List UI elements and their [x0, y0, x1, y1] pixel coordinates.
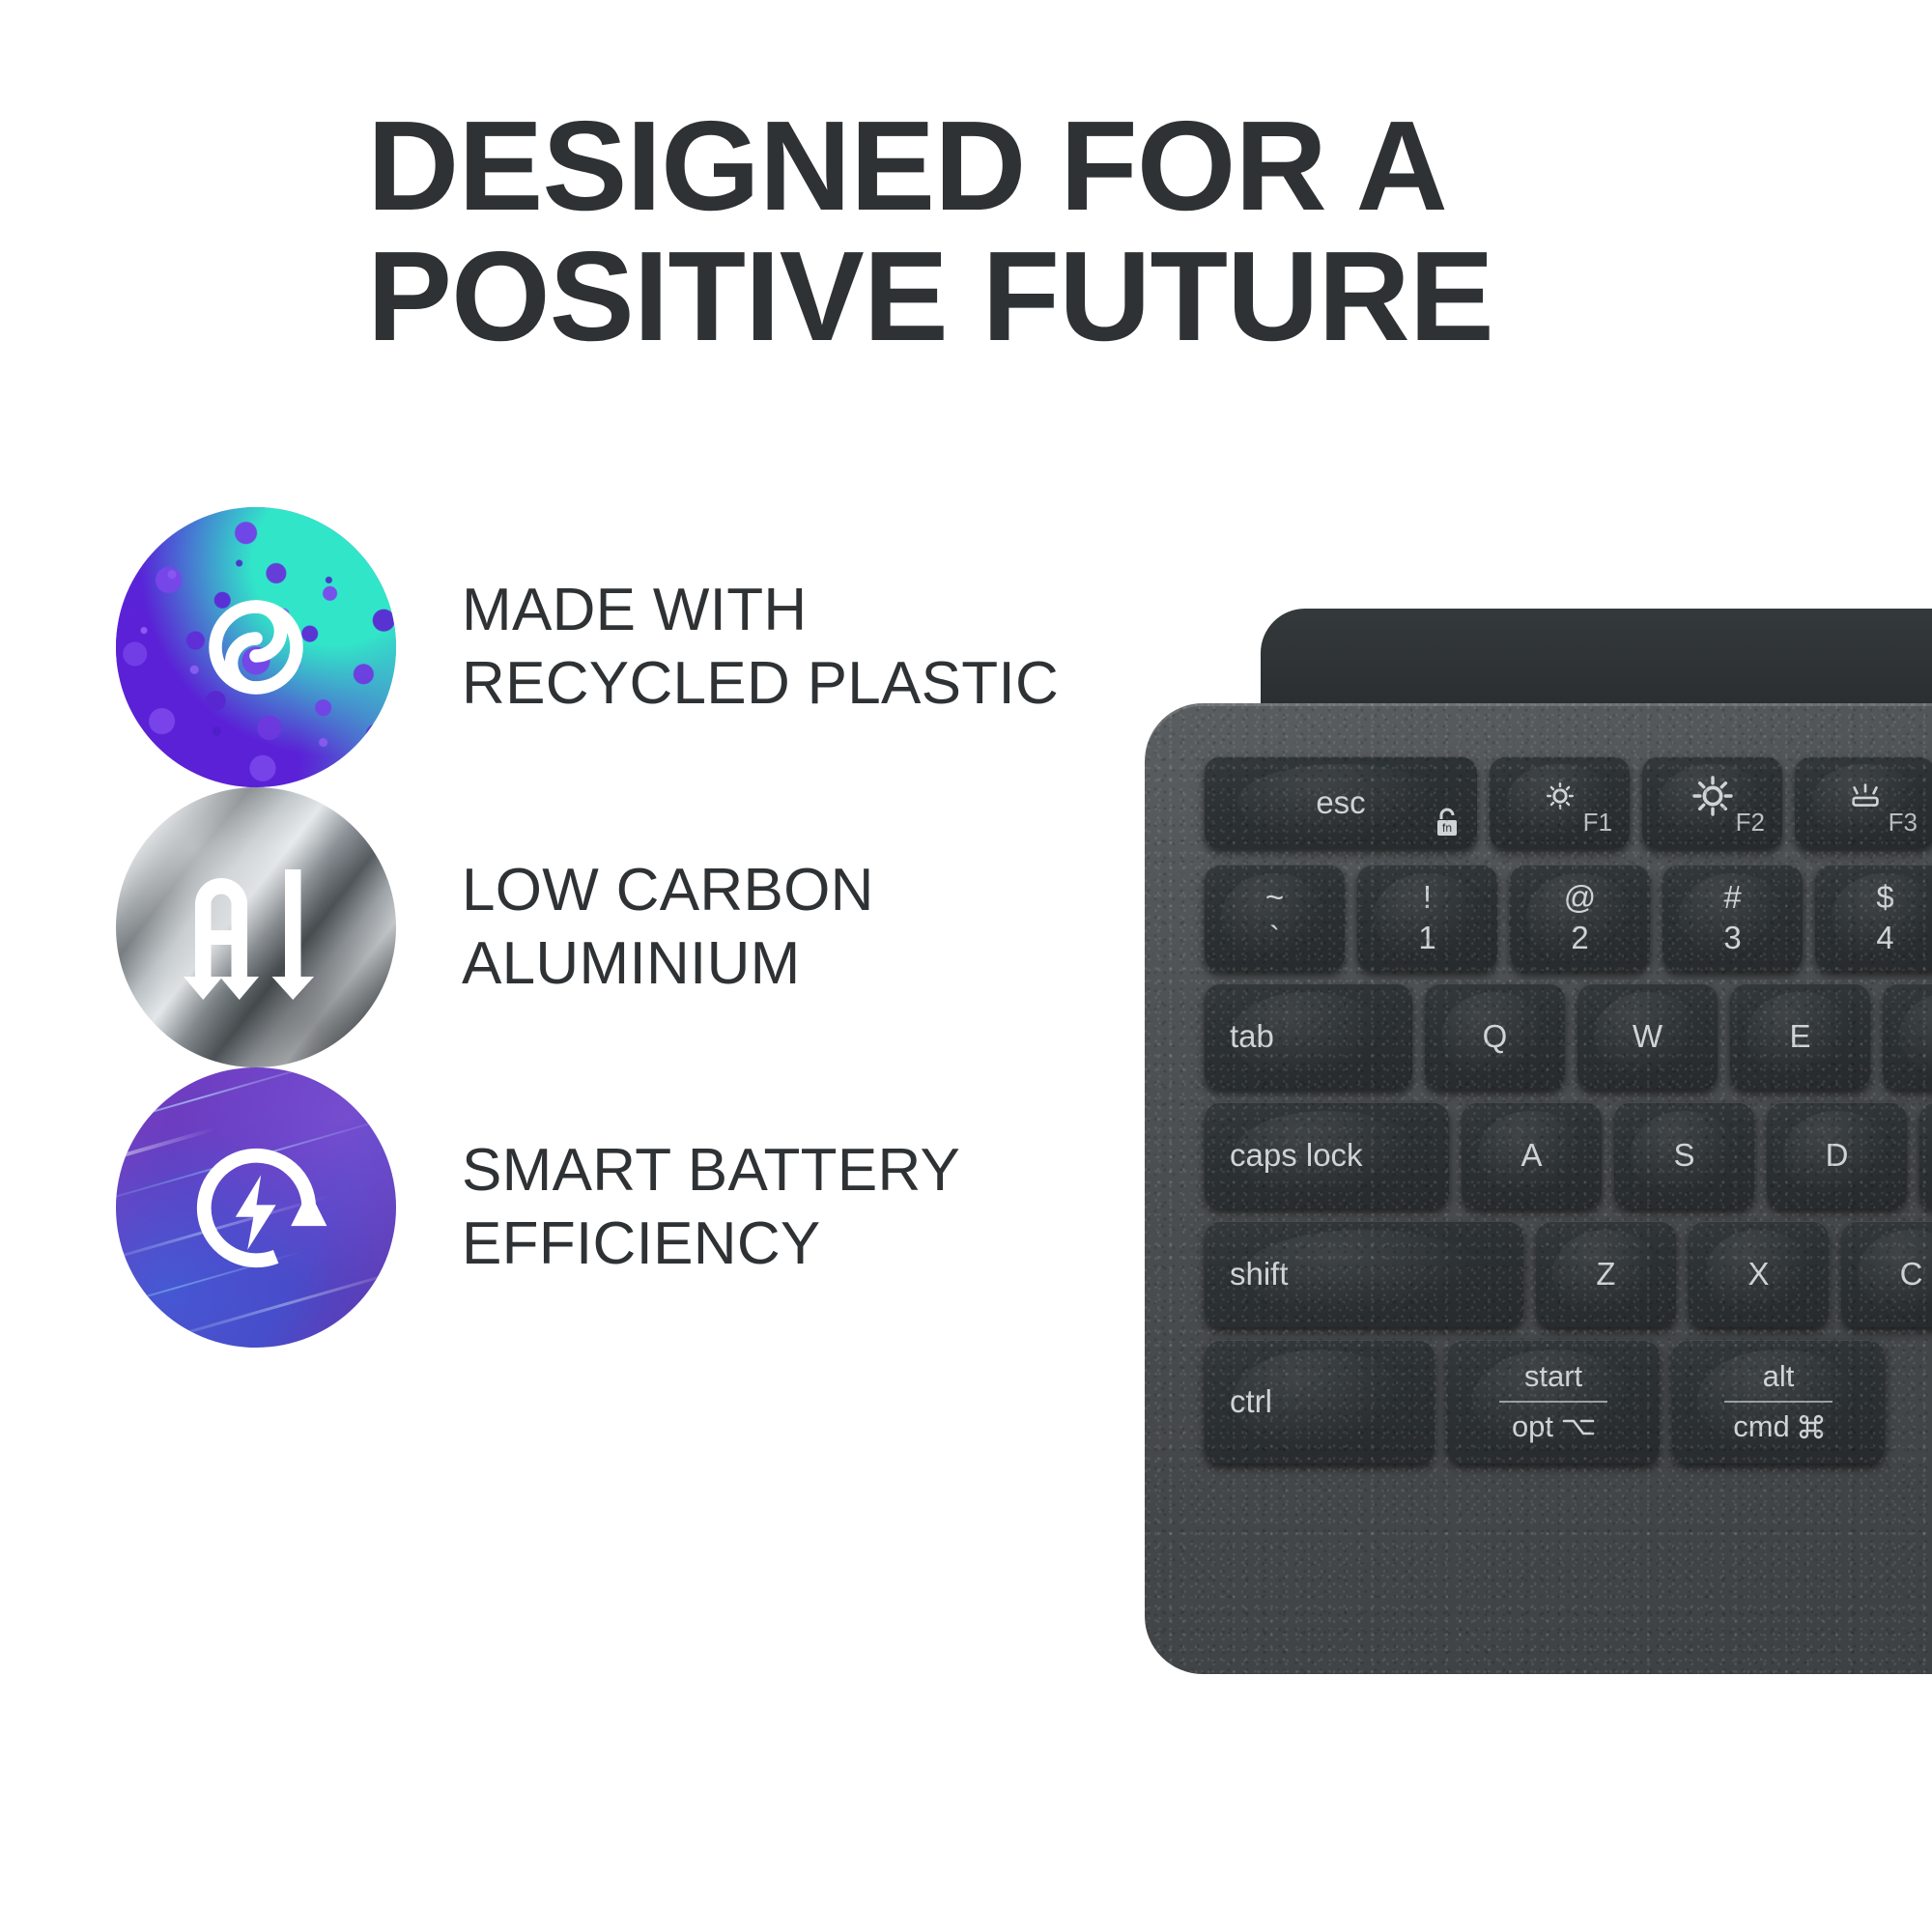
- keyboard-row-tab: tab Q W E: [1205, 983, 1932, 1090]
- feature-label-low-carbon-aluminium: LOW CARBON ALUMINIUM: [462, 854, 874, 1000]
- key-ctrl[interactable]: ctrl: [1205, 1340, 1435, 1463]
- feature-item-recycled-plastic: MADE WITH RECYCLED PLASTIC: [116, 507, 1082, 787]
- keyboard-row-modifier: ctrl start opt: [1205, 1340, 1885, 1463]
- feature-label-smart-battery-efficiency: SMART BATTERY EFFICIENCY: [462, 1134, 960, 1280]
- headline-line-2: POSITIVE FUTURE: [367, 232, 1642, 362]
- feature-label-line-1: SMART BATTERY: [462, 1134, 960, 1207]
- product-feature-graphic: DESIGNED FOR A POSITIVE FUTURE MADE WITH: [0, 0, 1932, 1932]
- feature-label-recycled-plastic: MADE WITH RECYCLED PLASTIC: [462, 574, 1059, 720]
- feature-item-smart-battery-efficiency: SMART BATTERY EFFICIENCY: [116, 1067, 1082, 1348]
- key-caps-lock[interactable]: caps lock: [1205, 1102, 1449, 1208]
- feature-list: MADE WITH RECYCLED PLASTIC: [116, 507, 1082, 1348]
- feature-label-line-2: RECYCLED PLASTIC: [462, 647, 1059, 721]
- key-d[interactable]: D: [1767, 1102, 1907, 1208]
- aluminium-down-arrows-icon: [116, 787, 396, 1067]
- fn-lock-icon: fn: [1433, 807, 1462, 839]
- feature-label-line-2: ALUMINIUM: [462, 927, 874, 1001]
- key-2[interactable]: @ 2: [1510, 865, 1650, 971]
- badge-low-carbon-aluminium: [116, 787, 396, 1067]
- key-e[interactable]: E: [1730, 983, 1870, 1090]
- keyboard-row-function: esc fn: [1205, 756, 1932, 849]
- key-a[interactable]: A: [1462, 1102, 1602, 1208]
- key-q[interactable]: Q: [1425, 983, 1565, 1090]
- key-start-opt[interactable]: start opt: [1447, 1340, 1660, 1463]
- recycle-icon: [116, 507, 396, 787]
- badge-smart-battery-efficiency: [116, 1067, 396, 1348]
- badge-recycled-plastic: [116, 507, 396, 787]
- key-x[interactable]: X: [1689, 1221, 1829, 1327]
- feature-item-low-carbon-aluminium: LOW CARBON ALUMINIUM: [116, 787, 1082, 1067]
- key-r[interactable]: [1883, 983, 1932, 1090]
- key-backtick[interactable]: ~ `: [1205, 865, 1345, 971]
- keyboard-row-home: caps lock A S D: [1205, 1102, 1932, 1208]
- key-alt-cmd[interactable]: alt cmd: [1672, 1340, 1885, 1463]
- feature-label-line-1: MADE WITH: [462, 574, 1059, 647]
- page-title: DESIGNED FOR A POSITIVE FUTURE: [367, 101, 1642, 361]
- svg-text:fn: fn: [1442, 821, 1452, 835]
- key-f2[interactable]: F2: [1642, 756, 1782, 849]
- keyboard-product-image: esc fn: [1145, 609, 1932, 1700]
- key-4[interactable]: $ 4: [1815, 865, 1932, 971]
- option-icon: [1562, 1416, 1595, 1437]
- keyboard-chassis: esc fn: [1145, 703, 1932, 1674]
- key-1[interactable]: ! 1: [1357, 865, 1497, 971]
- key-w[interactable]: W: [1577, 983, 1718, 1090]
- key-esc[interactable]: esc fn: [1205, 756, 1477, 849]
- command-icon: [1799, 1414, 1824, 1439]
- keyboard-row-number: ~ ` ! 1 @ 2: [1205, 865, 1932, 971]
- headline-line-1: DESIGNED FOR A: [367, 101, 1642, 232]
- key-c[interactable]: C: [1841, 1221, 1932, 1327]
- key-tab[interactable]: tab: [1205, 983, 1412, 1090]
- key-3[interactable]: # 3: [1662, 865, 1803, 971]
- battery-bolt-refresh-icon: [116, 1067, 396, 1348]
- key-f[interactable]: [1919, 1102, 1932, 1208]
- key-f1[interactable]: F1: [1490, 756, 1630, 849]
- key-shift[interactable]: shift: [1205, 1221, 1523, 1327]
- key-s[interactable]: S: [1614, 1102, 1754, 1208]
- key-z[interactable]: Z: [1536, 1221, 1676, 1327]
- key-f3[interactable]: F3: [1795, 756, 1932, 849]
- keyboard-row-shift: shift Z X C: [1205, 1221, 1932, 1327]
- feature-label-line-2: EFFICIENCY: [462, 1207, 960, 1281]
- feature-label-line-1: LOW CARBON: [462, 854, 874, 927]
